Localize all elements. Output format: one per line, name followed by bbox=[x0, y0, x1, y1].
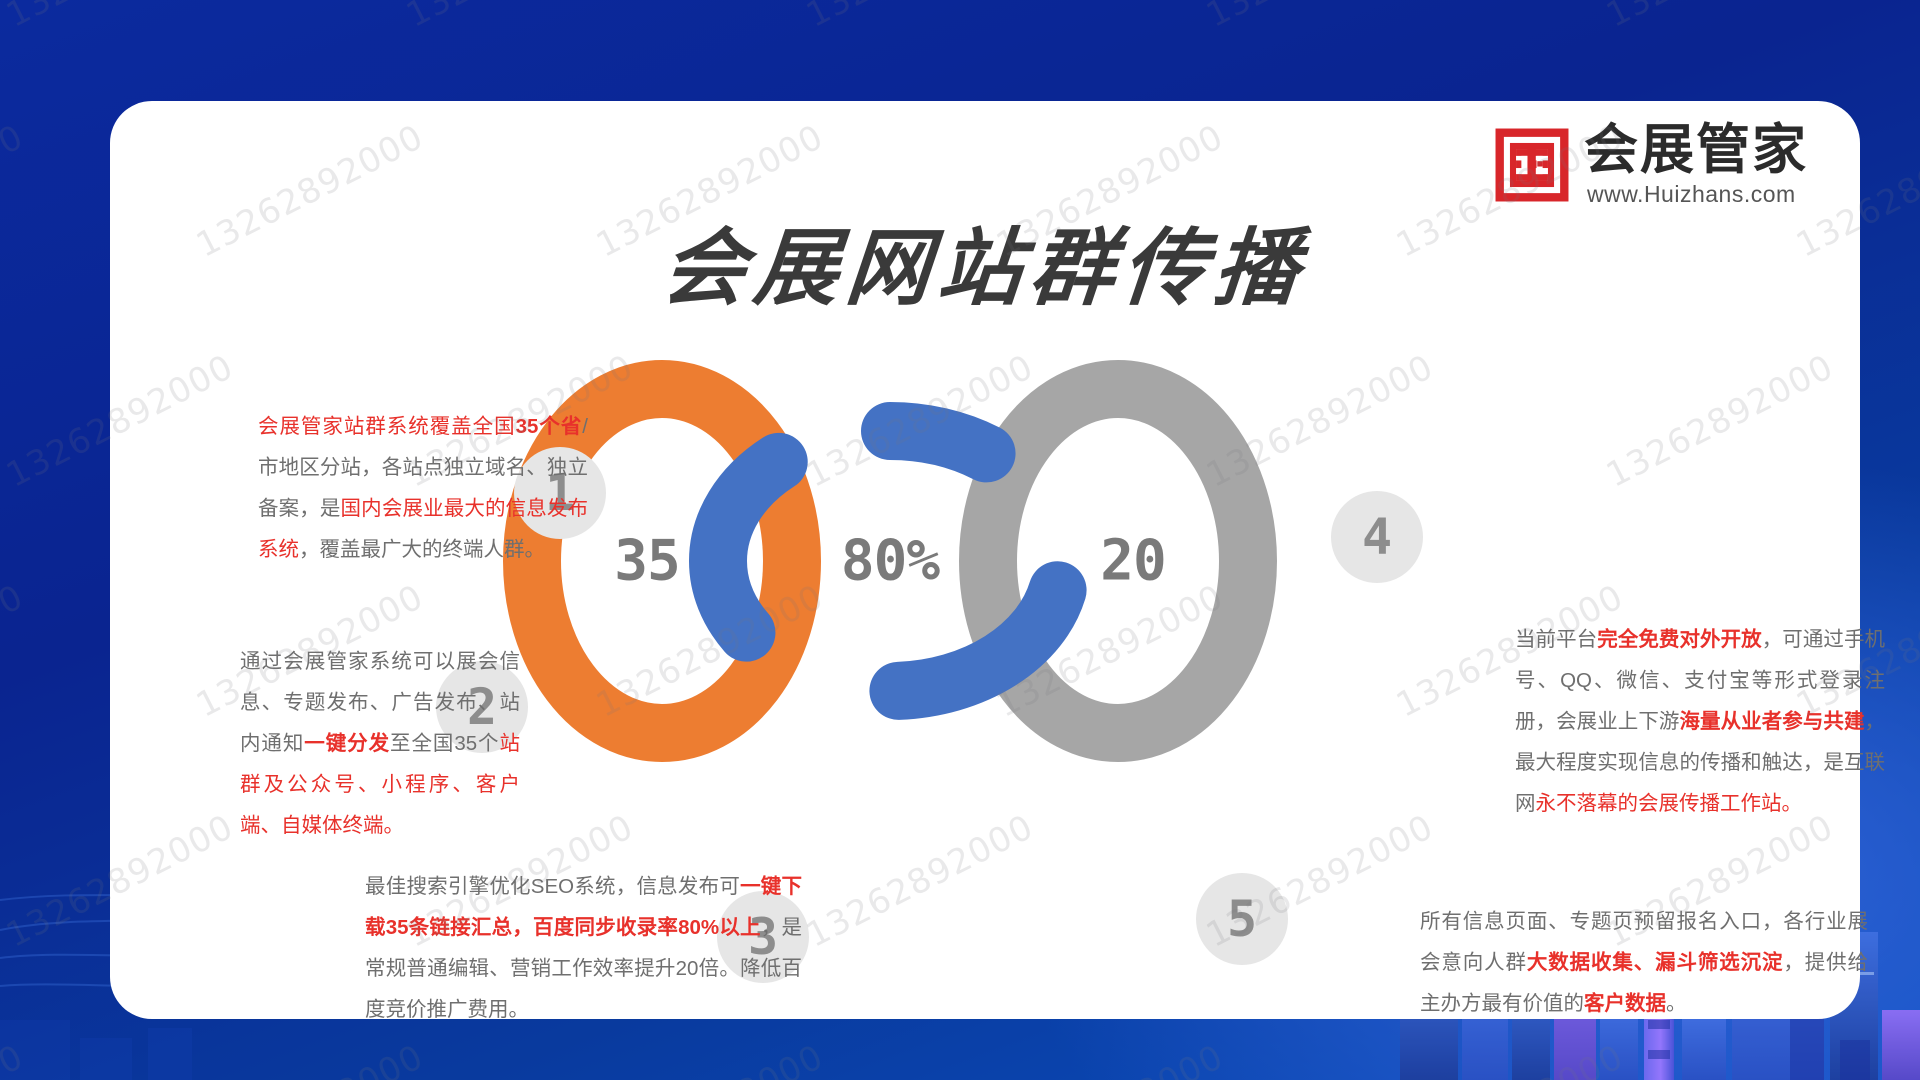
text-segment: 客户数据 bbox=[1584, 992, 1666, 1015]
watermark-text: 13262892000 bbox=[0, 117, 30, 266]
watermark-text: 13262892000 bbox=[590, 1037, 830, 1080]
text-segment: 。 bbox=[1666, 992, 1687, 1015]
watermark-text: 13262892000 bbox=[0, 1037, 30, 1080]
text-segment: 大数据收集、漏斗筛选沉淀 bbox=[1527, 951, 1784, 974]
text-segment: 35个省 bbox=[516, 415, 583, 438]
watermark-text: 13262892000 bbox=[190, 1037, 430, 1080]
watermark-text: 13262892000 bbox=[800, 0, 1040, 36]
logo-brand-name: 会展管家 bbox=[1584, 123, 1808, 177]
watermark-text: 13262892000 bbox=[400, 0, 640, 36]
text-segment: 永不落幕的会展传播工作站。 bbox=[1536, 792, 1803, 815]
watermark-text: 13262892000 bbox=[990, 1037, 1230, 1080]
feature-text-3: 最佳搜索引擎优化SEO系统，信息发布可一键下载35条链接汇总，百度同步收录率80… bbox=[365, 866, 802, 1030]
interlocking-rings-graphic: 35 80% 20 bbox=[495, 351, 1285, 771]
watermark-text: 13262892000 bbox=[1790, 1037, 1920, 1080]
text-segment: 至全国35个 bbox=[390, 732, 499, 755]
huizhans-logo-mark-icon bbox=[1494, 127, 1570, 203]
text-segment: 当前平台 bbox=[1515, 628, 1597, 651]
step-badge-5[interactable]: 5 bbox=[1196, 873, 1288, 965]
text-segment: 最佳搜索引擎优化SEO系统，信息发布可 bbox=[365, 875, 740, 898]
watermark-text: 13262892000 bbox=[1600, 0, 1840, 36]
watermark-text: 13262892000 bbox=[0, 0, 240, 36]
watermark-text: 13262892000 bbox=[0, 577, 30, 726]
page-title: 会展网站群传播 bbox=[105, 201, 1866, 322]
brand-logo[interactable]: 会展管家 www.Huizhans.com bbox=[1494, 123, 1808, 206]
text-segment: 会展管家站群系统覆盖全国 bbox=[258, 415, 516, 438]
feature-text-2: 通过会展管家系统可以展会信息、专题发布、广告发布、站内通知一键分发至全国35个站… bbox=[240, 641, 520, 846]
text-segment: ，覆盖最广大的终端人群。 bbox=[299, 538, 545, 561]
text-segment: 海量从业者参与共建 bbox=[1679, 710, 1864, 733]
text-segment: 完全免费对外开放 bbox=[1597, 628, 1761, 651]
step-badge-4[interactable]: 4 bbox=[1331, 491, 1423, 583]
poster-canvas: 会展管家 www.Huizhans.com 会展网站群传播 35 80% 20 … bbox=[0, 0, 1920, 1080]
watermark-text: 13262892000 bbox=[1390, 1037, 1630, 1080]
content-card: 会展管家 www.Huizhans.com 会展网站群传播 35 80% 20 … bbox=[110, 101, 1860, 1019]
watermark-text: 13262892000 bbox=[1200, 0, 1440, 36]
feature-text-5: 所有信息页面、专题页预留报名入口，各行业展会意向人群大数据收集、漏斗筛选沉淀，提… bbox=[1420, 901, 1868, 1024]
ring-value-80: 80% bbox=[795, 529, 985, 594]
text-segment: 一键分发 bbox=[304, 732, 390, 755]
feature-text-4: 当前平台完全免费对外开放，可通过手机号、QQ、微信、支付宝等形式登录注册，会展业… bbox=[1515, 619, 1885, 824]
feature-text-1: 会展管家站群系统覆盖全国35个省/市地区分站，各站点独立域名、独立备案，是国内会… bbox=[258, 406, 588, 570]
ring-value-20: 20 bbox=[1043, 529, 1223, 594]
